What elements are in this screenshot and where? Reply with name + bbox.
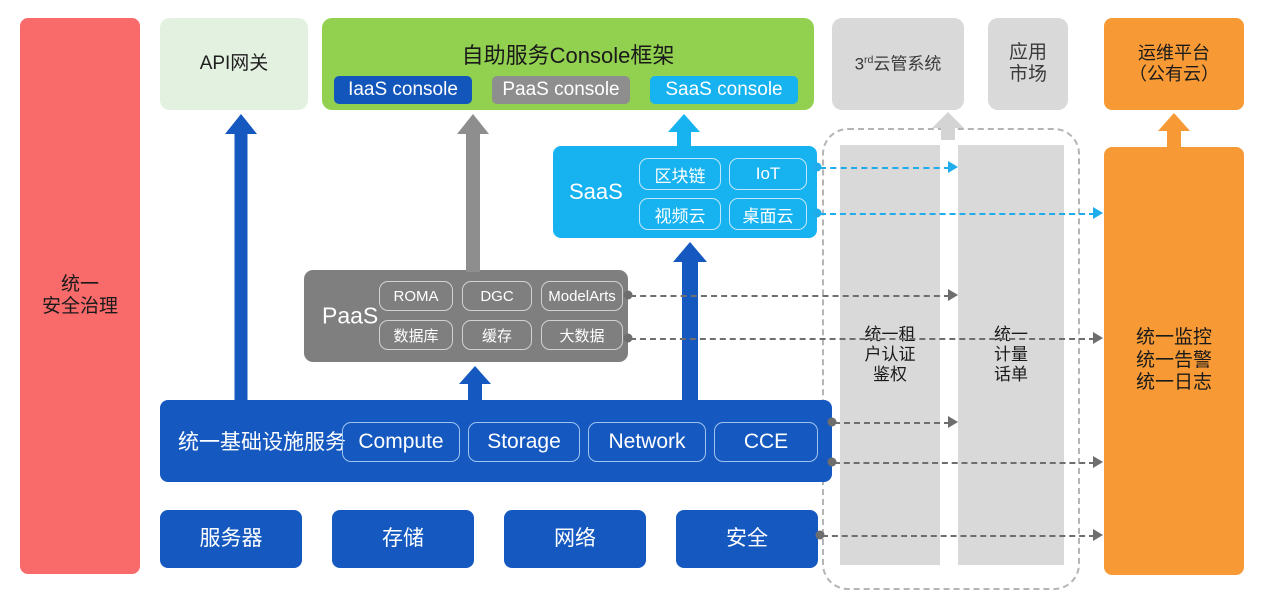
connector-saas-to-ops [820, 213, 1095, 215]
ops-panel-line2: 统一告警 [1136, 350, 1212, 372]
connector-arrow-infra-to-ops [1093, 456, 1103, 468]
saas-label: SaaS [569, 179, 623, 205]
connector-arrow-infra-to-auth [948, 416, 958, 428]
saas-item-blockchain[interactable]: 区块链 [639, 158, 721, 190]
arrow-shared-to-third-party [932, 112, 964, 140]
connector-arrow-base-to-ops [1093, 529, 1103, 541]
console-frame-title: 自助服务Console框架 [322, 38, 814, 70]
base-item-storage[interactable]: 存储 [332, 510, 474, 568]
connector-saas-to-auth [820, 167, 950, 169]
infra-item-compute[interactable]: Compute [342, 422, 460, 462]
ops-panel-line3: 统一日志 [1136, 372, 1212, 394]
base-item-security[interactable]: 安全 [676, 510, 818, 568]
ops-platform-top-box: 运维平台 （公有云） [1104, 18, 1244, 110]
ops-panel: 统一监控 统一告警 统一日志 [1104, 147, 1244, 575]
console-frame-box: 自助服务Console框架 IaaS console PaaS console … [322, 18, 814, 110]
infra-item-network[interactable]: Network [588, 422, 706, 462]
security-governance-line1: 统一 [61, 274, 99, 296]
connector-arrow-paas-to-auth [948, 289, 958, 301]
paas-box: PaaS ROMA DGC ModelArts 数据库 缓存 大数据 [304, 270, 628, 362]
unified-infrastructure-box: 统一基础设施服务 Compute Storage Network CCE [160, 400, 832, 482]
paas-console-chip[interactable]: PaaS console [492, 76, 630, 104]
connector-infra-to-ops [834, 462, 1095, 464]
paas-item-dgc[interactable]: DGC [462, 281, 532, 311]
saas-box: SaaS 区块链 IoT 视频云 桌面云 [553, 146, 817, 238]
base-item-server[interactable]: 服务器 [160, 510, 302, 568]
app-market-line1: 应用 [1009, 42, 1047, 64]
unified-metering-line3: 话单 [994, 365, 1028, 385]
api-gateway-box: API网关 [160, 18, 308, 110]
arrow-infra-to-saas [674, 242, 706, 402]
unified-metering-column: 统一 计量 话单 [958, 145, 1064, 565]
architecture-diagram: 统一 安全治理 API网关 自助服务Console框架 IaaS console… [0, 0, 1265, 605]
third-party-cloud-mgmt-label: 3rd云管系统 [855, 54, 942, 75]
api-gateway-label: API网关 [200, 53, 269, 75]
arrow-paas-to-console [457, 114, 489, 272]
unified-infrastructure-label: 统一基础设施服务 [178, 426, 346, 456]
app-market-line2: 市场 [1009, 64, 1047, 86]
connector-arrow-paas-to-ops [1093, 332, 1103, 344]
arrow-infra-to-paas [459, 366, 491, 402]
unified-tenant-auth-column: 统一租 户认证 鉴权 [840, 145, 940, 565]
ops-platform-top-line1: 运维平台 [1138, 43, 1210, 64]
arrow-to-ops-platform-top [1158, 113, 1190, 149]
base-item-network[interactable]: 网络 [504, 510, 646, 568]
iaas-console-chip[interactable]: IaaS console [334, 76, 472, 104]
connector-paas-to-ops [630, 338, 1095, 340]
connector-paas-to-auth [630, 295, 950, 297]
unified-metering-line2: 计量 [994, 345, 1028, 365]
connector-infra-to-auth [834, 422, 950, 424]
security-governance-line2: 安全治理 [42, 296, 118, 318]
infra-item-storage[interactable]: Storage [468, 422, 580, 462]
paas-item-database[interactable]: 数据库 [379, 320, 453, 350]
connector-base-to-ops [822, 535, 1095, 537]
saas-item-iot[interactable]: IoT [729, 158, 807, 190]
saas-item-video-cloud[interactable]: 视频云 [639, 198, 721, 230]
security-governance-panel: 统一 安全治理 [20, 18, 140, 574]
unified-tenant-auth-line3: 鉴权 [873, 365, 907, 385]
saas-console-chip[interactable]: SaaS console [650, 76, 798, 104]
infra-item-cce[interactable]: CCE [714, 422, 818, 462]
arrow-infra-to-api-gateway [225, 114, 257, 402]
paas-item-bigdata[interactable]: 大数据 [541, 320, 623, 350]
unified-tenant-auth-line2: 户认证 [865, 345, 916, 365]
third-party-cloud-mgmt-box: 3rd云管系统 [832, 18, 964, 110]
paas-item-modelarts[interactable]: ModelArts [541, 281, 623, 311]
paas-item-roma[interactable]: ROMA [379, 281, 453, 311]
ops-platform-top-line2: （公有云） [1129, 64, 1219, 85]
arrow-saas-to-saas-console [668, 114, 700, 148]
paas-item-cache[interactable]: 缓存 [462, 320, 532, 350]
app-market-box: 应用 市场 [988, 18, 1068, 110]
connector-arrow-saas-to-ops [1093, 207, 1103, 219]
paas-label: PaaS [322, 303, 378, 330]
ops-panel-line1: 统一监控 [1136, 327, 1212, 349]
unified-tenant-auth-line1: 统一租 [865, 325, 916, 345]
saas-item-desktop-cloud[interactable]: 桌面云 [729, 198, 807, 230]
unified-metering-line1: 统一 [994, 325, 1028, 345]
connector-arrow-saas-to-auth [948, 161, 958, 173]
